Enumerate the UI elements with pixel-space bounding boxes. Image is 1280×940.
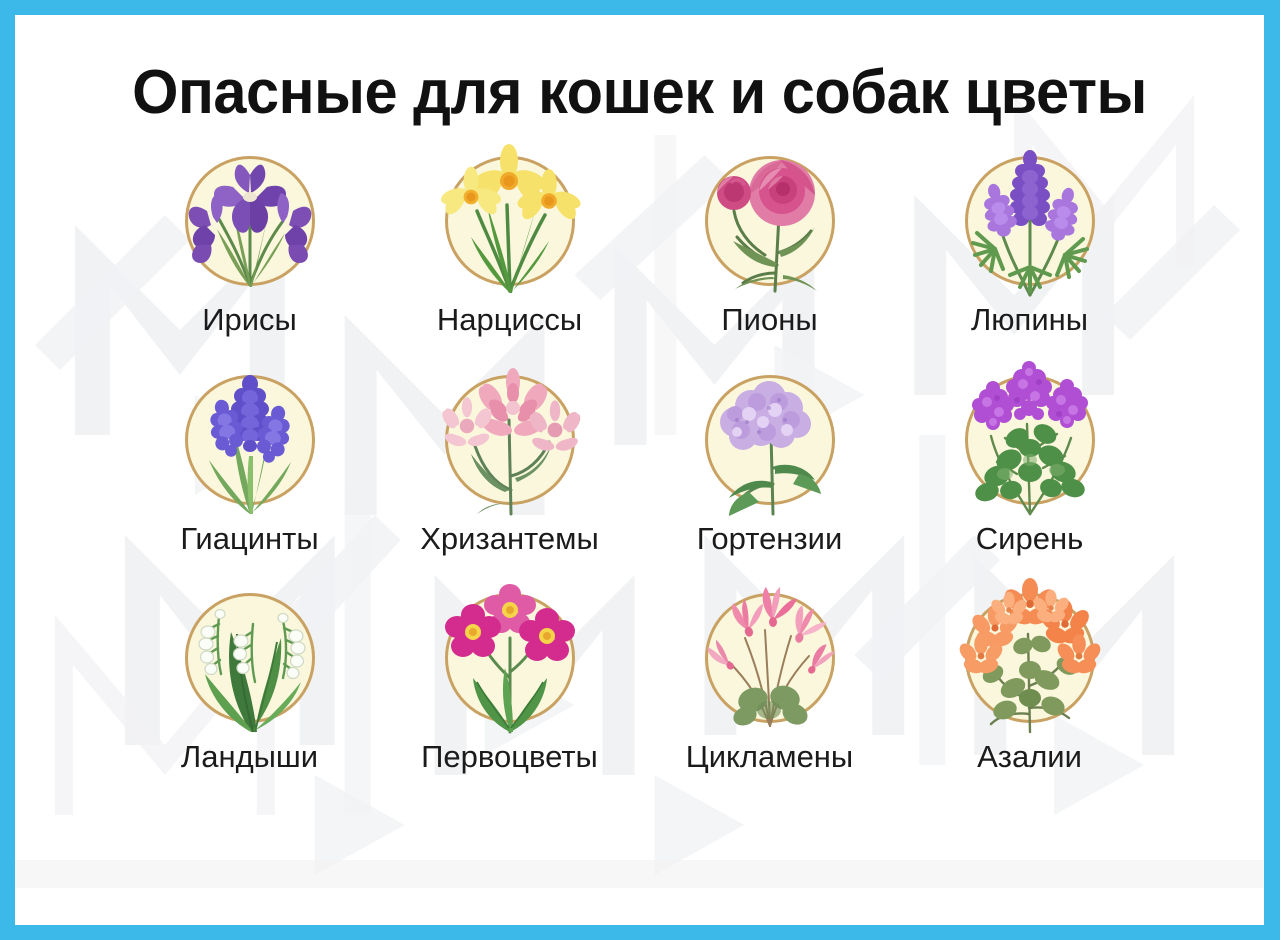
medallion	[687, 582, 853, 734]
medallion	[947, 145, 1113, 297]
flower-card-irisy[interactable]: Ирисы	[120, 145, 380, 364]
flower-label: Люпины	[971, 304, 1088, 337]
medallion	[167, 582, 333, 734]
flower-label: Первоцветы	[421, 741, 598, 774]
primrose-icon	[427, 582, 593, 734]
lupine-icon	[947, 145, 1113, 297]
flower-card-tsiklameny[interactable]: Цикламены	[640, 582, 900, 801]
flower-card-azalii[interactable]: Азалии	[900, 582, 1160, 801]
flower-card-landyshi[interactable]: Ландыши	[120, 582, 380, 801]
medallion	[947, 364, 1113, 516]
flower-card-lyupiny[interactable]: Люпины	[900, 145, 1160, 364]
poster-canvas: Опасные для кошек и собак цветы	[15, 15, 1264, 925]
lily-of-valley-icon	[167, 582, 333, 734]
medallion	[427, 582, 593, 734]
lilac-icon	[947, 364, 1113, 516]
chrysanthemum-icon	[427, 364, 593, 516]
flower-label: Цикламены	[686, 741, 853, 774]
azalea-icon	[947, 582, 1113, 734]
flower-label: Гиацинты	[180, 523, 318, 556]
flower-card-gortenzii[interactable]: Гортензии	[640, 364, 900, 583]
flower-label: Ландыши	[181, 741, 318, 774]
cyclamen-icon	[687, 582, 853, 734]
medallion	[687, 364, 853, 516]
flower-label: Хризантемы	[420, 523, 599, 556]
flower-label: Гортензии	[697, 523, 843, 556]
flower-card-narcissy[interactable]: Нарциссы	[380, 145, 640, 364]
medallion	[427, 364, 593, 516]
flower-card-giatsinty[interactable]: Гиацинты	[120, 364, 380, 583]
hydrangea-icon	[687, 364, 853, 516]
hyacinth-icon	[167, 364, 333, 516]
flower-label: Азалии	[977, 741, 1082, 774]
flower-label: Ирисы	[202, 304, 297, 337]
flower-label: Нарциссы	[437, 304, 582, 337]
flower-card-pervotsvety[interactable]: Первоцветы	[380, 582, 640, 801]
flower-card-piony[interactable]: Пионы	[640, 145, 900, 364]
flower-label: Сирень	[976, 523, 1083, 556]
poster-frame: Опасные для кошек и собак цветы	[0, 0, 1280, 940]
daffodil-icon	[427, 145, 593, 297]
medallion	[167, 145, 333, 297]
iris-icon	[167, 145, 333, 297]
medallion	[167, 364, 333, 516]
peony-icon	[687, 145, 853, 297]
page-title: Опасные для кошек и собак цветы	[40, 15, 1239, 124]
medallion	[947, 582, 1113, 734]
flower-grid: Ирисы	[120, 145, 1160, 801]
medallion	[427, 145, 593, 297]
flower-label: Пионы	[721, 304, 817, 337]
flower-card-siren[interactable]: Сирень	[900, 364, 1160, 583]
medallion	[687, 145, 853, 297]
flower-card-hrizantemy[interactable]: Хризантемы	[380, 364, 640, 583]
